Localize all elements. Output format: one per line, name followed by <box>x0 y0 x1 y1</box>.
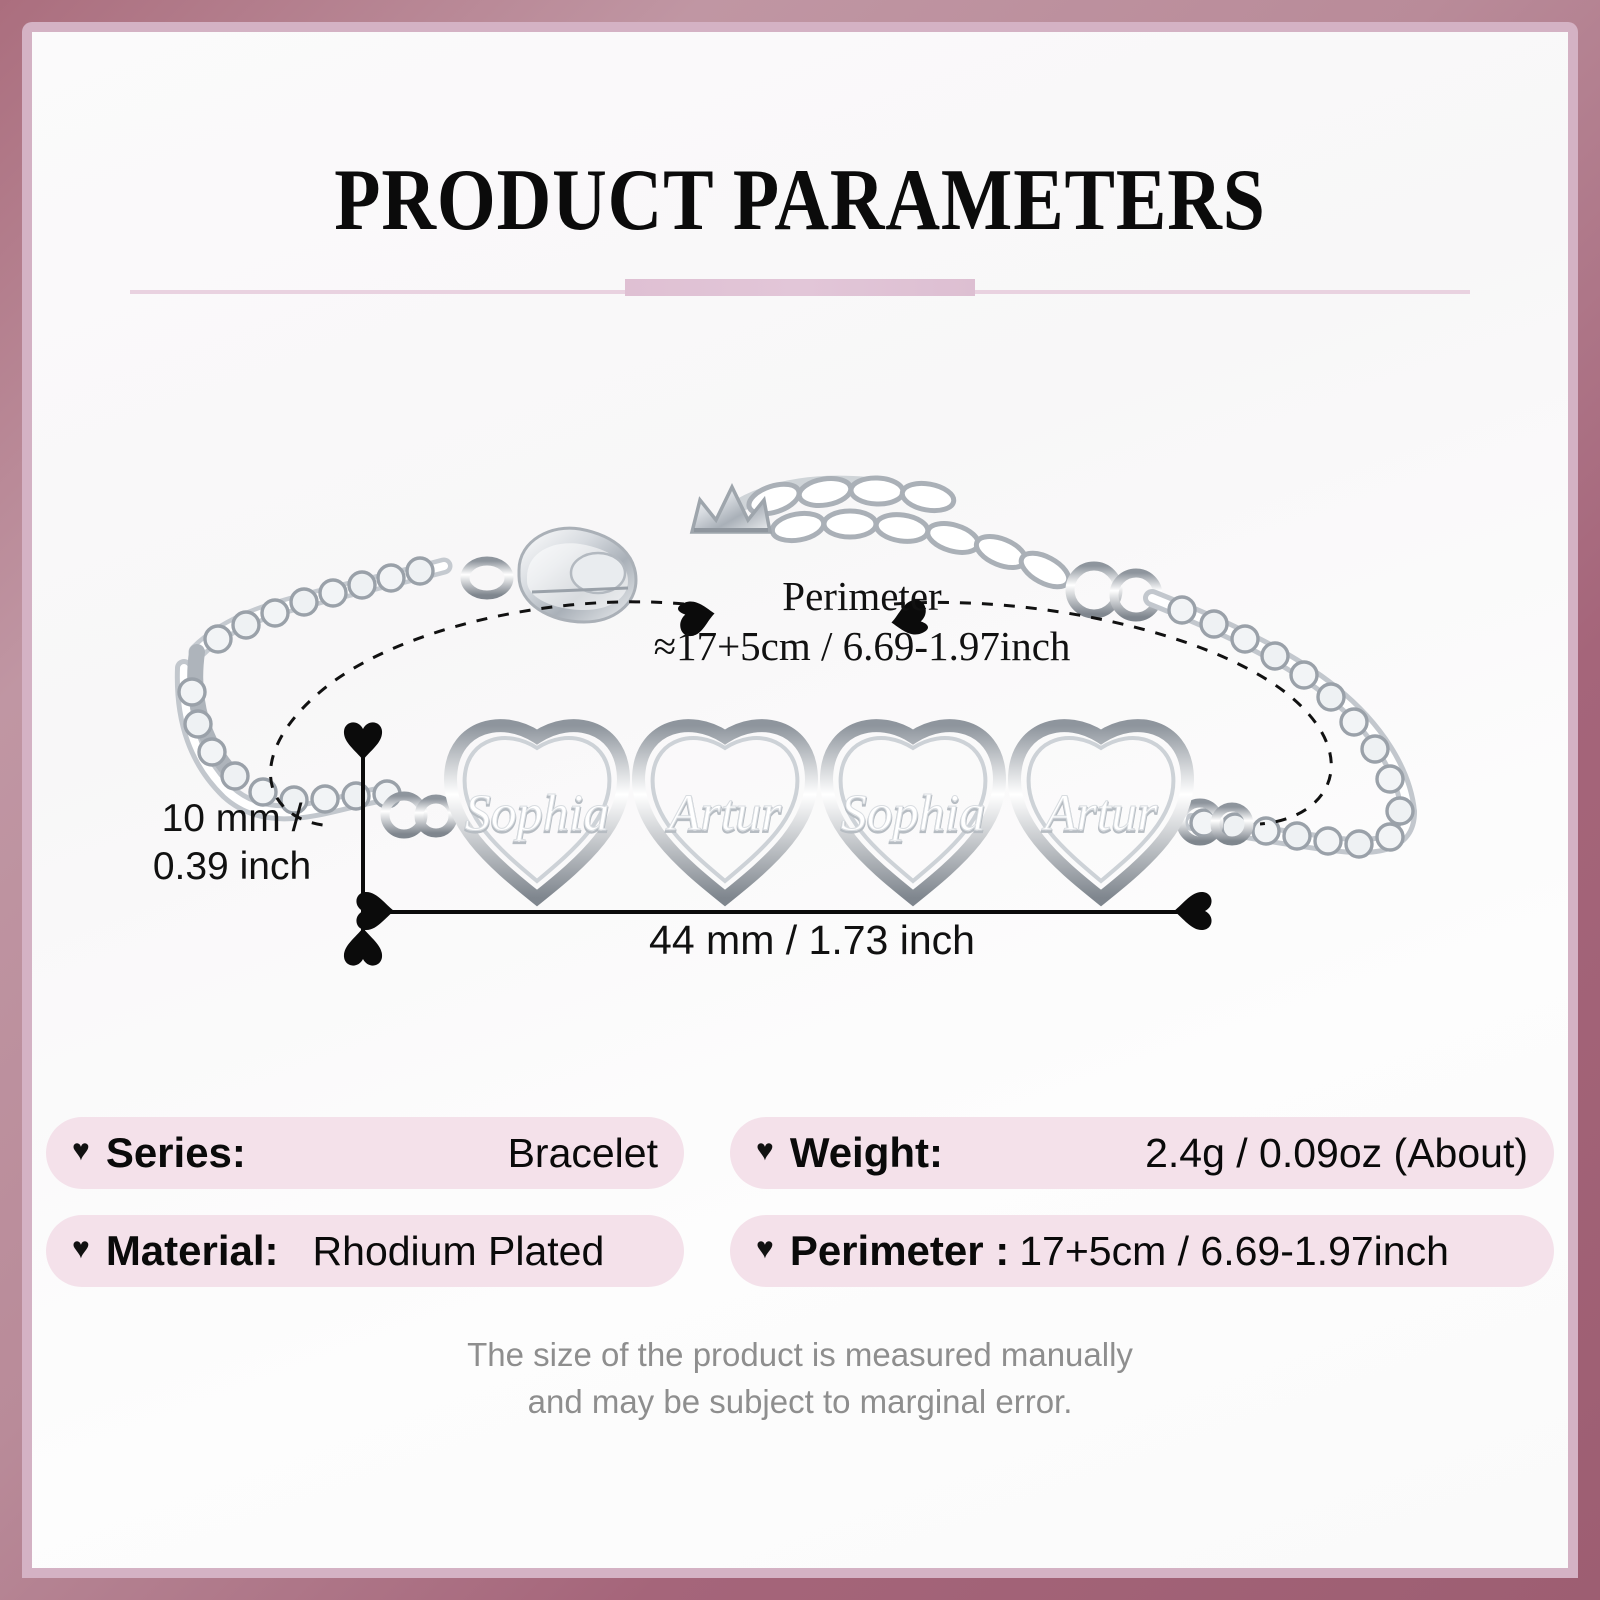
content-canvas: PRODUCT PARAMETERS <box>32 32 1568 1568</box>
heart-bullet-icon: ♥ <box>756 1136 774 1166</box>
heart-charm-3: Sophia Sophia <box>826 726 999 898</box>
heart-charm-4: Artur Artur <box>1014 726 1187 898</box>
spec-label-perimeter: Perimeter : <box>790 1227 1009 1275</box>
height-dimension-line2: 0.39 inch <box>132 843 332 891</box>
svg-text:Sophia: Sophia <box>465 785 609 842</box>
disclaimer-line-2: and may be subject to marginal error. <box>32 1379 1568 1426</box>
heart-bullet-icon: ♥ <box>72 1234 90 1264</box>
spec-label-series: Series: <box>106 1129 246 1177</box>
svg-text:Artur: Artur <box>666 785 782 842</box>
spec-pill-row-2: ♥ Material: Rhodium Plated ♥ Perimeter :… <box>46 1215 1554 1287</box>
height-dimension-label: 10 mm / 0.39 inch <box>132 795 332 890</box>
height-dimension-line1: 10 mm / <box>132 795 332 843</box>
spec-pill-weight: ♥ Weight: 2.4g / 0.09oz (About) <box>730 1117 1554 1189</box>
heart-charms: Sophia Sophia Artur Artur Sophia <box>450 726 1187 898</box>
spec-pill-row-1: ♥ Series: Bracelet ♥ Weight: 2.4g / 0.09… <box>46 1117 1554 1189</box>
spec-pill-material: ♥ Material: Rhodium Plated <box>46 1215 684 1287</box>
spec-value-perimeter: 17+5cm / 6.69-1.97inch <box>1019 1228 1449 1275</box>
perimeter-value: ≈17+5cm / 6.69-1.97inch <box>552 622 1172 670</box>
spec-pill-perimeter: ♥ Perimeter : 17+5cm / 6.69-1.97inch <box>730 1215 1554 1287</box>
svg-text:Sophia: Sophia <box>841 785 985 842</box>
page-frame: PRODUCT PARAMETERS <box>0 0 1600 1600</box>
spec-value-weight: 2.4g / 0.09oz (About) <box>1145 1130 1528 1177</box>
spec-value-material: Rhodium Plated <box>313 1228 605 1275</box>
spec-label-material: Material: <box>106 1227 279 1275</box>
width-dimension-label: 44 mm / 1.73 inch <box>532 917 1092 964</box>
disclaimer-line-1: The size of the product is measured manu… <box>32 1332 1568 1379</box>
svg-text:Artur: Artur <box>1042 785 1158 842</box>
spec-pill-series: ♥ Series: Bracelet <box>46 1117 684 1189</box>
spec-label-weight: Weight: <box>790 1129 943 1177</box>
disclaimer: The size of the product is measured manu… <box>32 1332 1568 1426</box>
perimeter-label: Perimeter <box>652 572 1072 620</box>
spec-value-series: Bracelet <box>508 1130 658 1177</box>
heart-bullet-icon: ♥ <box>72 1136 90 1166</box>
heart-charm-2: Artur Artur <box>638 726 811 898</box>
spec-pill-grid: ♥ Series: Bracelet ♥ Weight: 2.4g / 0.09… <box>46 1117 1554 1313</box>
heart-bullet-icon: ♥ <box>756 1234 774 1264</box>
heart-charm-1: Sophia Sophia <box>450 726 623 898</box>
